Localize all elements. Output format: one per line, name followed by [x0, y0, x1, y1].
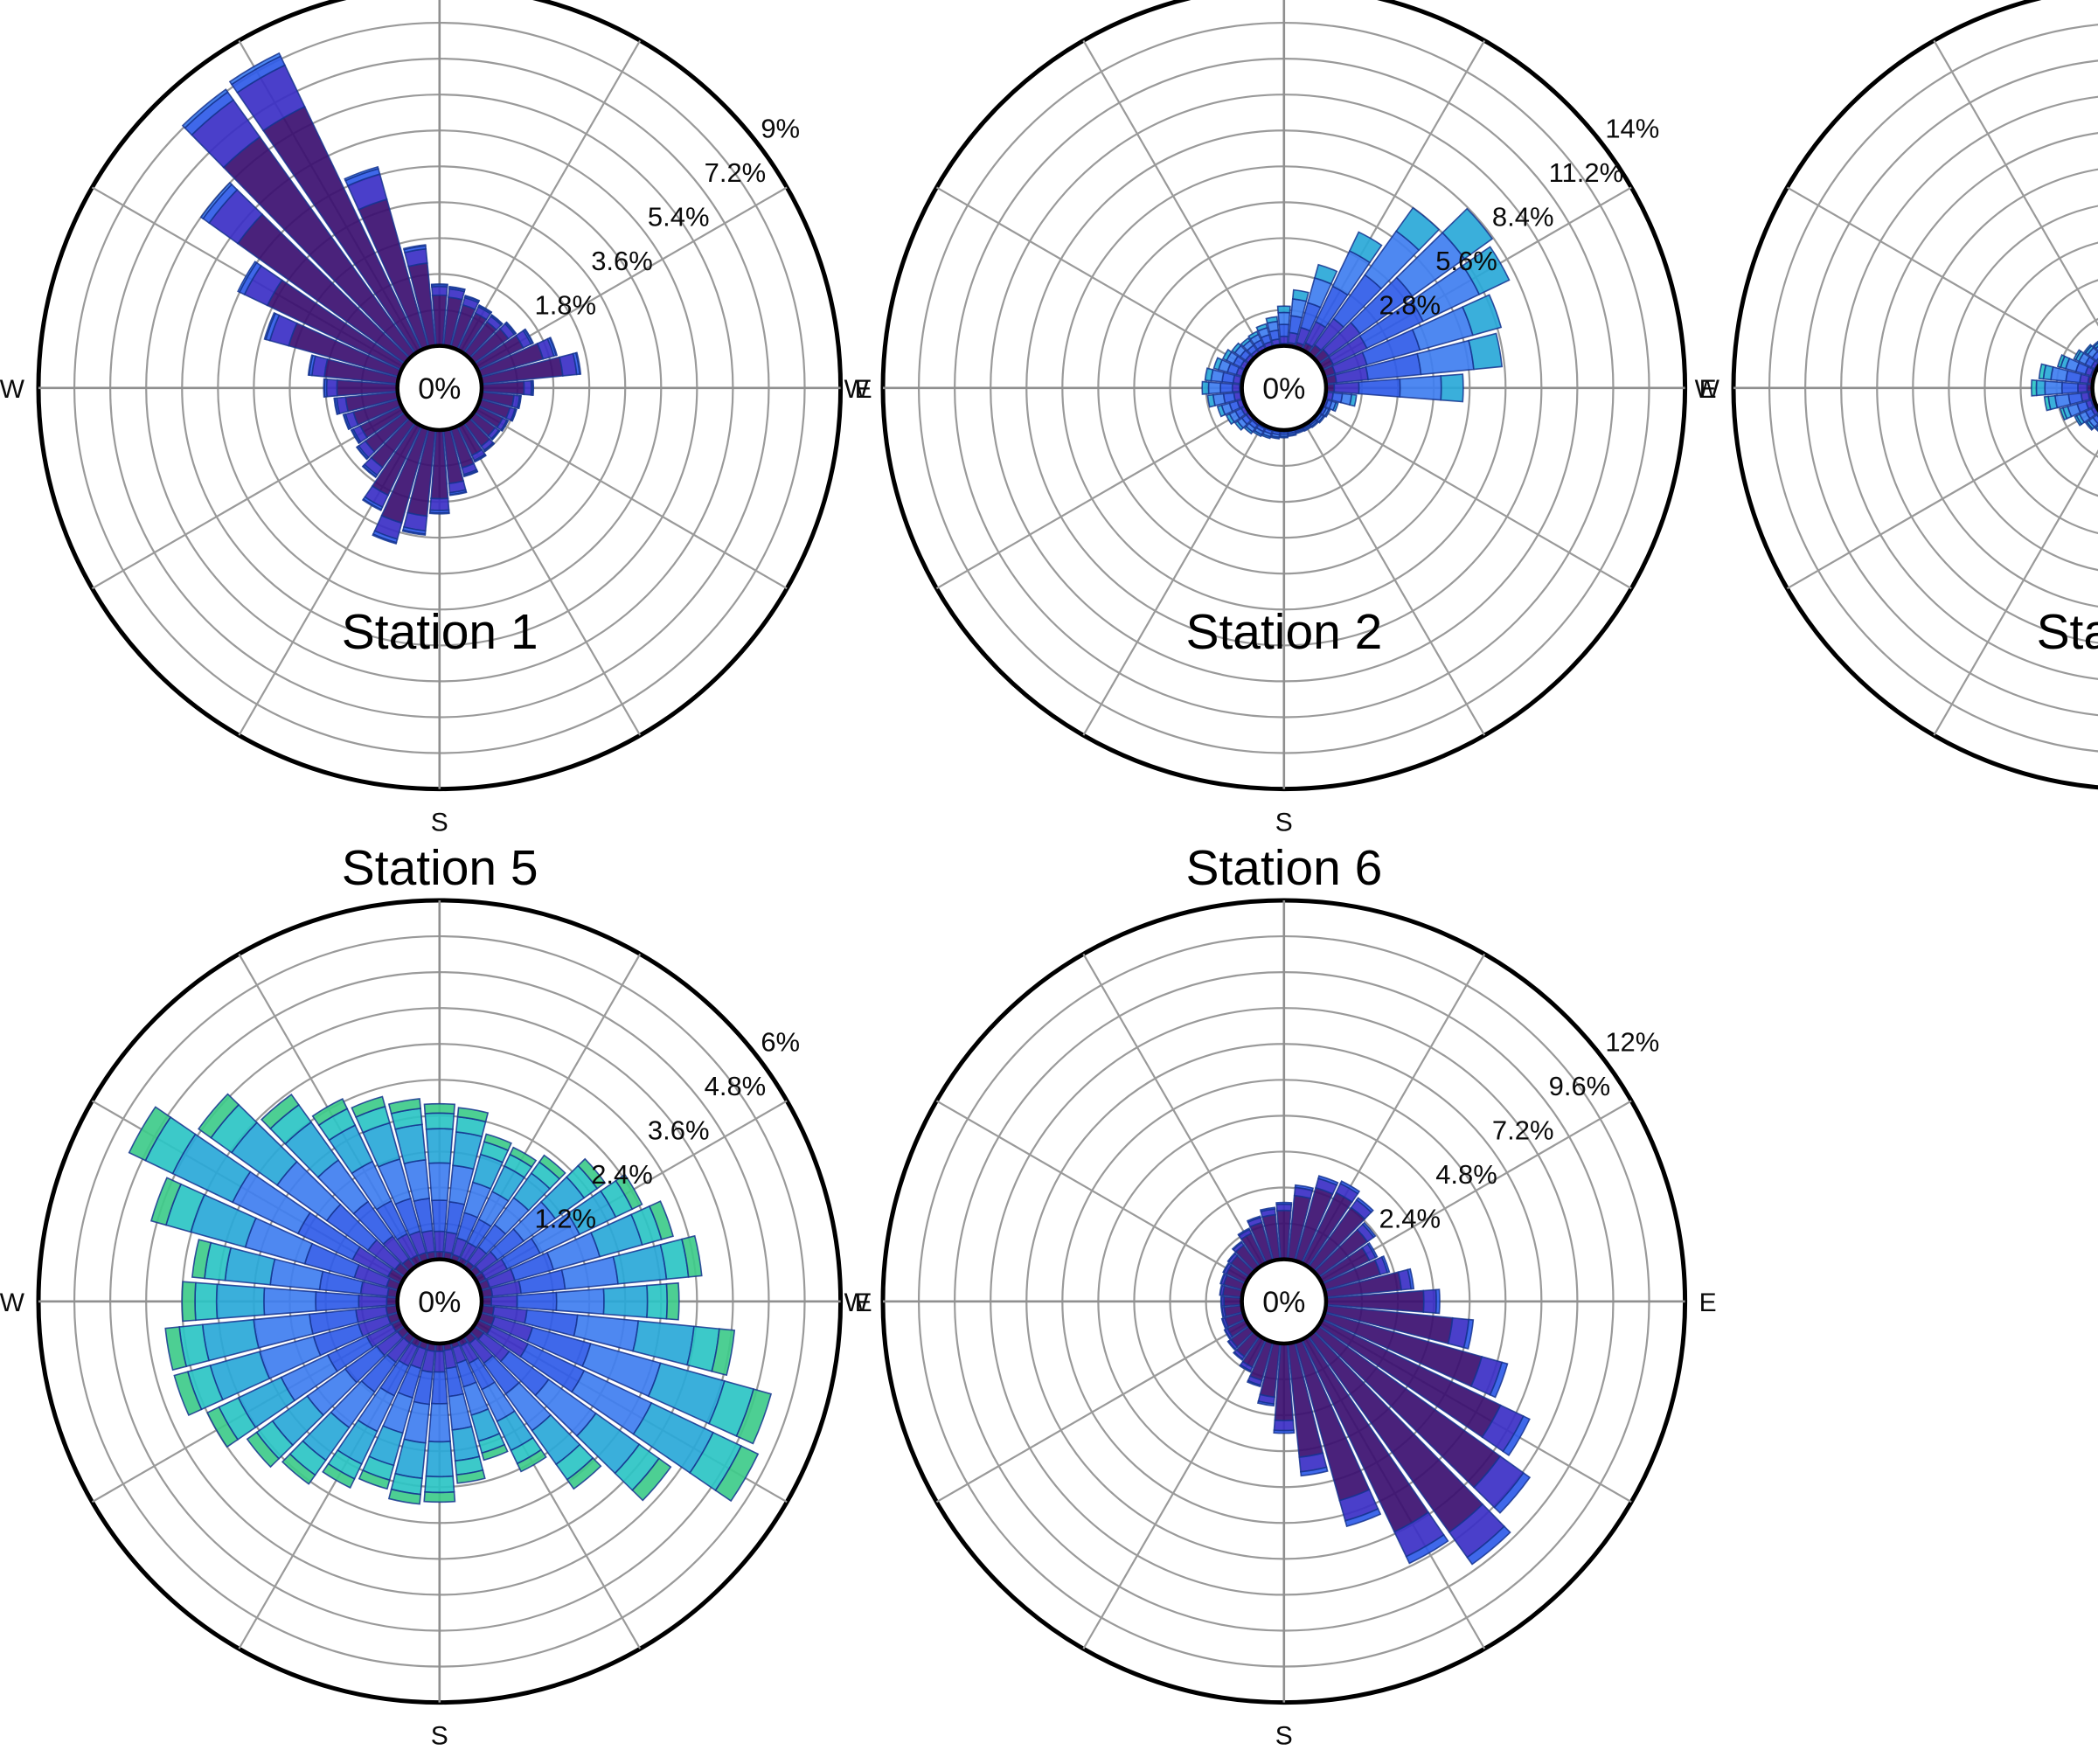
rose-petal-segment: [1293, 290, 1309, 302]
rose-petal-segment: [429, 1404, 451, 1442]
rose-petal-segment: [1267, 316, 1278, 323]
rose-radial-tick-label: 4.8%: [705, 1071, 767, 1101]
rose-petal-segment: [647, 1284, 667, 1319]
compass-label-east: E: [1699, 1288, 1717, 1317]
wind-rose-station-1: 0%1.8%3.6%5.4%7.2%9%EWS: [0, 0, 902, 851]
rose-petal-segment: [1233, 384, 1240, 392]
rose-petal-segment: [429, 1163, 450, 1201]
rose-petal-segment: [426, 1114, 455, 1129]
rose-petal-segment: [1208, 395, 1215, 407]
rose-petal-segment: [1358, 379, 1400, 397]
rose-petal-segment: [533, 381, 534, 395]
rose-center-label: 0%: [1262, 372, 1305, 406]
rose-petal-segment: [1469, 334, 1502, 370]
rose-petal-segment: [327, 379, 337, 397]
rose-petal-segment: [1275, 1420, 1295, 1431]
rose-petal-segment: [1350, 395, 1357, 406]
rose-center-label: 0%: [419, 372, 462, 406]
rose-radial-tick-label: 5.4%: [648, 202, 710, 233]
rose-radial-tick-label: 2.8%: [1379, 290, 1442, 321]
rose-petal-segment: [430, 513, 449, 514]
rose-center-label: 0%: [419, 1286, 462, 1319]
rose-petal-segment: [2078, 384, 2088, 392]
rose-petal-segment: [432, 1200, 448, 1232]
compass-label-west: W: [0, 1288, 25, 1317]
rose-petal-segment: [1281, 436, 1289, 438]
rose-petal-segment: [316, 1292, 359, 1311]
wind-rose-figure: 0%1.8%3.6%5.4%7.2%9%EWSStation 10%2.8%5.…: [0, 0, 2098, 1466]
rose-petal-segment: [432, 1372, 448, 1405]
compass-label-west: W: [0, 375, 25, 404]
rose-radial-tick-label: 4.8%: [1435, 1159, 1497, 1190]
rose-radial-tick-label: 7.2%: [705, 157, 767, 188]
rose-petal-segment: [1278, 306, 1290, 313]
rose-petal-segment: [1224, 1297, 1242, 1307]
rose-radial-tick-label: 12%: [1605, 1027, 1659, 1058]
rose-radial-tick-label: 3.6%: [648, 1115, 710, 1146]
rose-radial-tick-label: 8.4%: [1492, 202, 1554, 233]
rose-petal-segment: [264, 1288, 316, 1316]
rose-petal-segment: [1209, 382, 1221, 393]
rose-petal-segment: [1400, 376, 1441, 400]
rose-petal-segment: [425, 1492, 455, 1503]
rose-petal-segment: [1334, 382, 1358, 393]
rose-radial-tick-label: 6%: [761, 1027, 801, 1058]
rose-petal-segment: [667, 1283, 679, 1320]
compass-label-west: W: [844, 375, 870, 404]
rose-petal-segment: [324, 379, 325, 397]
rose-spoke-line: [1935, 388, 2098, 735]
rose-petal-segment: [432, 284, 448, 285]
compass-label-south: S: [431, 809, 448, 837]
rose-radial-tick-label: 2.4%: [1379, 1204, 1442, 1234]
rose-petal-segment: [2045, 381, 2062, 395]
wind-rose-station-4: 0%4%8%12%16%20%EWS: [1672, 0, 2098, 851]
rose-radial-tick-label: 3.6%: [592, 246, 654, 276]
rose-petal-segment: [432, 287, 448, 295]
rose-spoke-line: [1935, 41, 2098, 388]
rose-radial-tick-label: 9.6%: [1549, 1071, 1611, 1101]
wind-rose-station-5: 0%1.2%2.4%3.6%4.8%6%EWS: [0, 839, 902, 1764]
rose-petal-segment: [1274, 1431, 1294, 1434]
rose-petal-segment: [2037, 380, 2046, 395]
rose-title-station-2: Station 2: [1022, 608, 1546, 657]
rose-title-station-6: Station 6: [1022, 844, 1546, 893]
rose-petal-segment: [195, 1283, 217, 1321]
rose-radial-tick-label: 2.4%: [592, 1159, 654, 1190]
rose-radial-tick-label: 5.6%: [1435, 246, 1497, 276]
rose-title-station-1: Station 1: [177, 608, 702, 657]
rose-petal-segment: [2062, 383, 2078, 394]
rose-radial-tick-label: 11.2%: [1549, 157, 1624, 188]
wind-rose-station-6: 0%2.4%4.8%7.2%9.6%12%EWS: [822, 839, 1747, 1764]
rose-petal-segment: [1441, 374, 1463, 401]
rose-petal-segment: [1276, 1203, 1291, 1205]
rose-petal-segment: [425, 1476, 455, 1493]
compass-label-west: W: [844, 1288, 870, 1317]
rose-petal-segment: [427, 1129, 453, 1164]
rose-petal-segment: [1276, 1205, 1291, 1211]
compass-label-west: W: [1695, 375, 1720, 404]
rose-petal-segment: [1278, 313, 1289, 325]
rose-radial-tick-label: 1.8%: [535, 290, 597, 321]
compass-label-south: S: [431, 1722, 448, 1751]
rose-petal-segment: [1423, 1290, 1436, 1314]
rose-petal-segment: [518, 1293, 557, 1311]
rose-petal-segment: [183, 1282, 197, 1322]
rose-petal-segment: [1205, 368, 1213, 380]
rose-petal-segment: [1436, 1290, 1440, 1314]
rose-petal-segment: [425, 1104, 455, 1114]
rose-petal-segment: [434, 1232, 445, 1252]
rose-center-label: 0%: [1262, 1286, 1305, 1319]
rose-title-station-5: Station 5: [177, 844, 702, 893]
compass-label-south: S: [1275, 809, 1293, 837]
rose-petal-segment: [434, 1351, 445, 1372]
rose-radial-tick-label: 9%: [761, 114, 801, 144]
rose-petal-segment: [1279, 324, 1289, 337]
rose-petal-segment: [1221, 1297, 1222, 1307]
rose-petal-segment: [1280, 337, 1288, 344]
rose-petal-segment: [427, 1441, 454, 1476]
rose-petal-segment: [430, 498, 449, 510]
rose-radial-tick-label: 1.2%: [535, 1204, 597, 1234]
wind-rose-station-2: 0%2.8%5.6%8.4%11.2%14%EWS: [822, 0, 1747, 851]
rose-petal-segment: [2032, 380, 2037, 396]
rose-petal-segment: [217, 1285, 265, 1319]
compass-label-south: S: [1275, 1722, 1293, 1751]
rose-petal-segment: [557, 1289, 605, 1315]
rose-title-station-4: Station 4: [1872, 608, 2098, 657]
rose-petal-segment: [1220, 383, 1233, 392]
rose-radial-tick-label: 14%: [1605, 114, 1659, 144]
rose-petal-segment: [524, 381, 532, 395]
rose-petal-segment: [359, 1295, 387, 1308]
rose-petal-segment: [604, 1286, 648, 1318]
rose-radial-tick-label: 7.2%: [1492, 1115, 1554, 1146]
rose-petal-segment: [491, 1295, 518, 1308]
rose-petal-segment: [1202, 382, 1209, 394]
